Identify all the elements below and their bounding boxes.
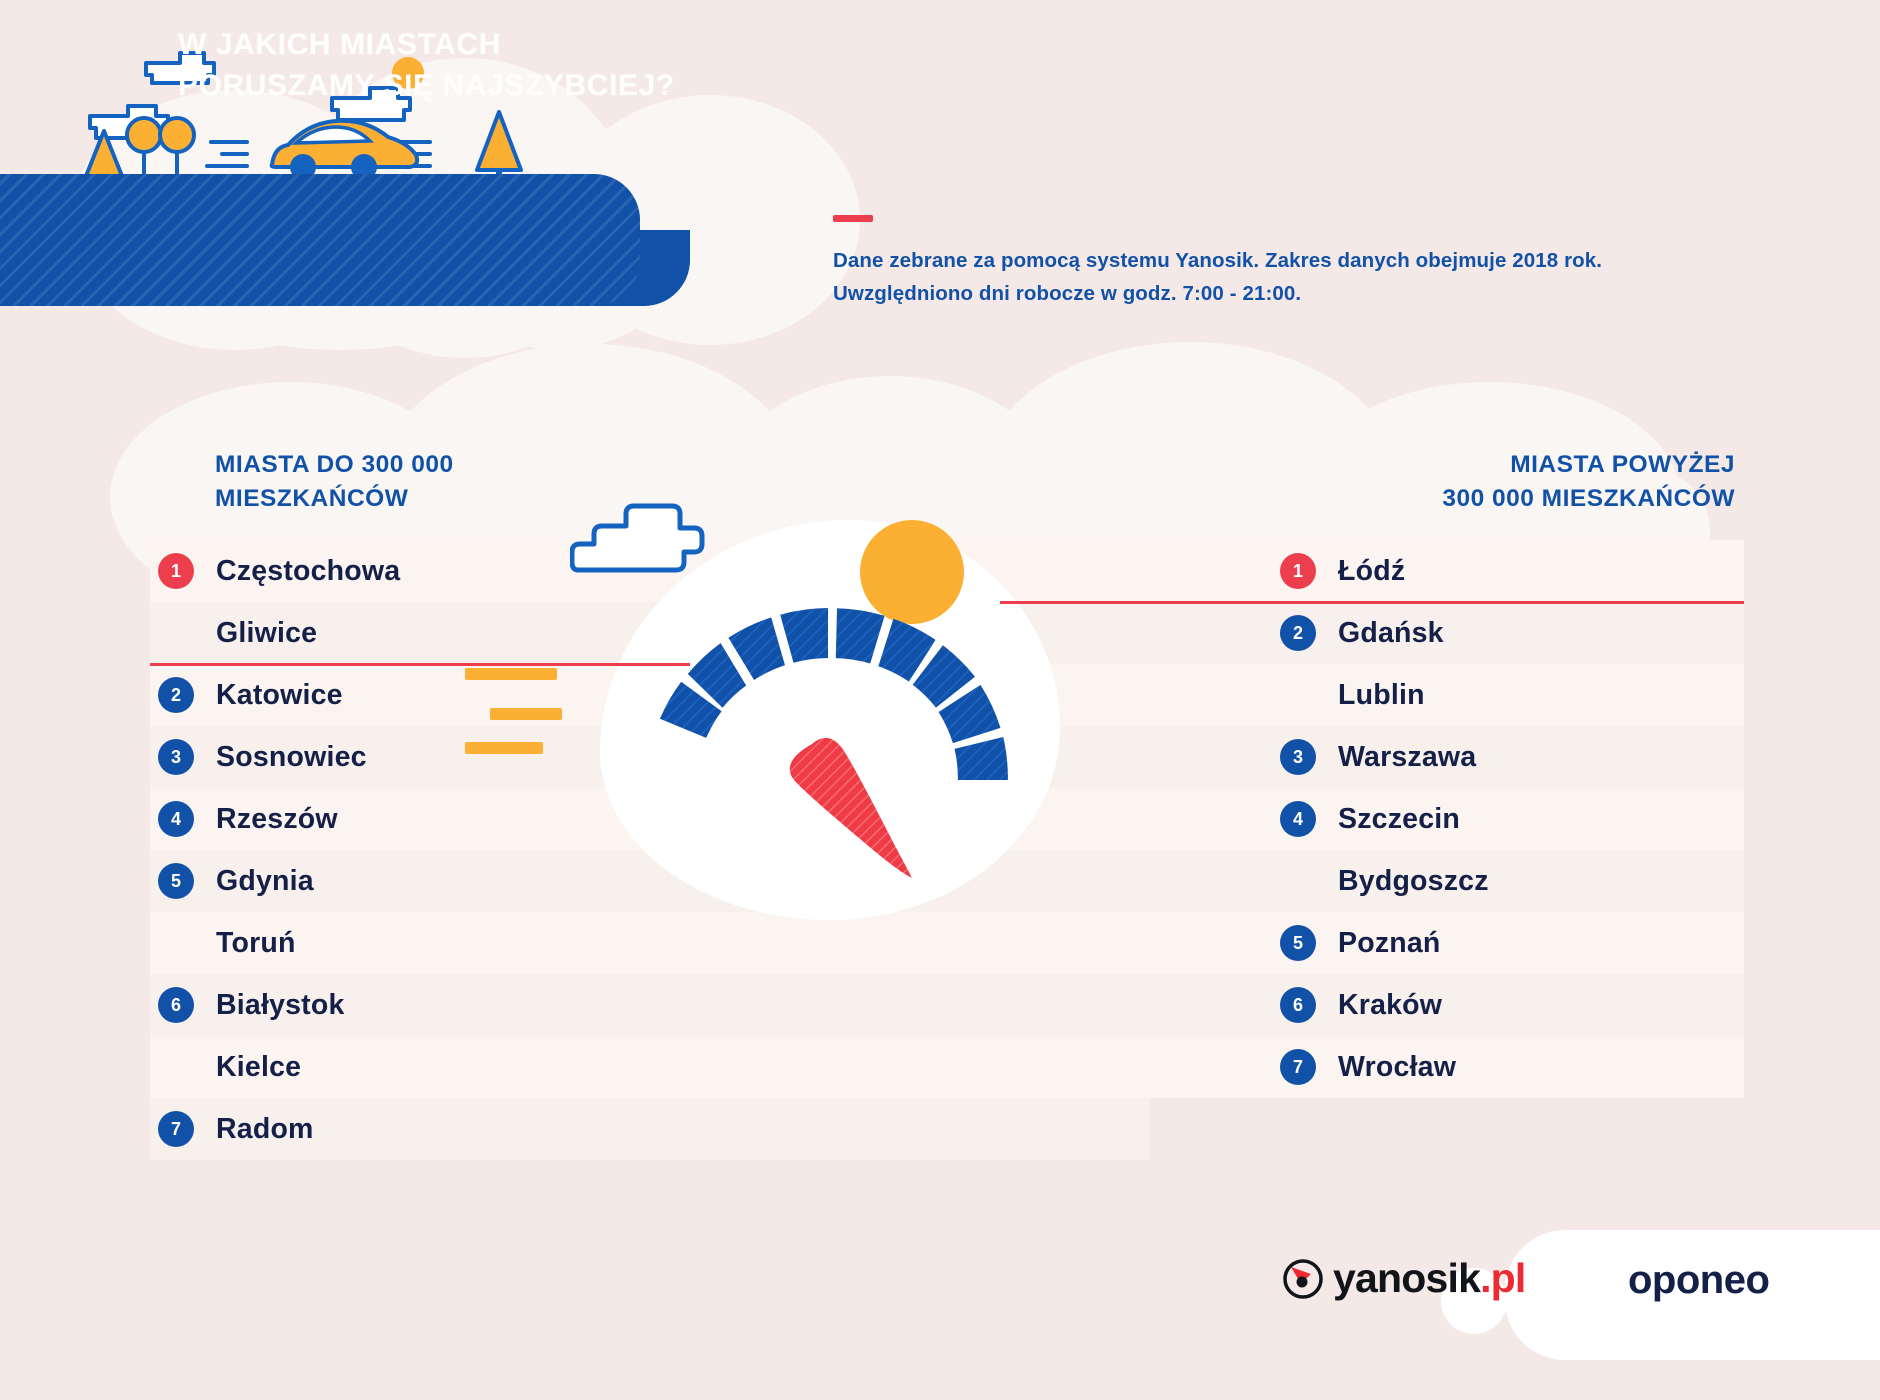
note-accent-dash bbox=[833, 215, 873, 222]
city-row[interactable]: 6Kraków bbox=[1280, 974, 1750, 1036]
rank-divider-line bbox=[150, 663, 690, 666]
city-row[interactable]: 1Łódź bbox=[1280, 540, 1750, 602]
city-row[interactable]: Kielce bbox=[158, 1036, 678, 1098]
rank-badge: 4 bbox=[1280, 801, 1316, 837]
city-name: Kraków bbox=[1338, 989, 1442, 1022]
car-icon bbox=[272, 121, 418, 180]
city-name: Rzeszów bbox=[216, 803, 338, 836]
tree-icon bbox=[127, 118, 161, 178]
title-banner bbox=[0, 174, 640, 306]
rank-badge-empty bbox=[158, 1049, 194, 1085]
title-line-1: W JAKICH MIASTACH bbox=[178, 25, 675, 66]
city-name: Gliwice bbox=[216, 617, 317, 650]
right-heading-line-1: MIASTA POWYŻEJ bbox=[1335, 448, 1735, 482]
gauge-needle bbox=[790, 738, 912, 878]
tree-icon bbox=[160, 118, 194, 178]
rank-badge-empty bbox=[1280, 863, 1316, 899]
city-name: Szczecin bbox=[1338, 803, 1460, 836]
rank-badge: 5 bbox=[158, 863, 194, 899]
right-city-list: 1Łódź2GdańskLublin3Warszawa4SzczecinBydg… bbox=[1280, 540, 1750, 1098]
city-row[interactable]: 4Rzeszów bbox=[158, 788, 678, 850]
rank-badge: 7 bbox=[158, 1111, 194, 1147]
source-note: Dane zebrane za pomocą systemu Yanosik. … bbox=[833, 215, 1653, 310]
left-column-heading: MIASTA DO 300 000 MIESZKAŃCÓW bbox=[215, 448, 454, 516]
city-name: Katowice bbox=[216, 679, 343, 712]
rank-badge: 1 bbox=[1280, 553, 1316, 589]
right-heading-line-2: 300 000 MIESZKAŃCÓW bbox=[1335, 482, 1735, 516]
city-name: Poznań bbox=[1338, 927, 1441, 960]
yanosik-mark-icon bbox=[1282, 1258, 1324, 1300]
city-name: Łódź bbox=[1338, 555, 1405, 588]
city-row[interactable]: 4Szczecin bbox=[1280, 788, 1750, 850]
city-row[interactable]: 2Katowice bbox=[158, 664, 678, 726]
left-city-list: 1CzęstochowaGliwice2Katowice3Sosnowiec4R… bbox=[158, 540, 678, 1160]
city-row[interactable]: 7Wrocław bbox=[1280, 1036, 1750, 1098]
rank-badge: 6 bbox=[1280, 987, 1316, 1023]
note-text: Dane zebrane za pomocą systemu Yanosik. … bbox=[833, 244, 1653, 310]
city-name: Białystok bbox=[216, 989, 345, 1022]
city-row[interactable]: Lublin bbox=[1280, 664, 1750, 726]
rank-badge: 1 bbox=[158, 553, 194, 589]
rank-badge-empty bbox=[158, 925, 194, 961]
city-row[interactable]: 1Częstochowa bbox=[158, 540, 678, 602]
yanosik-logo[interactable]: yanosik.pl bbox=[1282, 1255, 1526, 1302]
left-heading-line-1: MIASTA DO 300 000 bbox=[215, 448, 454, 482]
city-name: Sosnowiec bbox=[216, 741, 367, 774]
rank-badge-empty bbox=[158, 615, 194, 651]
yanosik-name: yanosik bbox=[1333, 1255, 1480, 1301]
city-row[interactable]: 3Warszawa bbox=[1280, 726, 1750, 788]
city-row[interactable]: Bydgoszcz bbox=[1280, 850, 1750, 912]
city-name: Wrocław bbox=[1338, 1051, 1456, 1084]
city-name: Gdynia bbox=[216, 865, 314, 898]
city-name: Radom bbox=[216, 1113, 314, 1146]
city-row[interactable]: Gliwice bbox=[158, 602, 678, 664]
rank-badge-empty bbox=[1280, 677, 1316, 713]
oponeo-wordmark[interactable]: oponeo bbox=[1628, 1258, 1769, 1303]
rank-badge: 3 bbox=[1280, 739, 1316, 775]
city-name: Warszawa bbox=[1338, 741, 1476, 774]
city-name: Gdańsk bbox=[1338, 617, 1444, 650]
right-column-heading: MIASTA POWYŻEJ 300 000 MIESZKAŃCÓW bbox=[1335, 448, 1735, 516]
rank-badge: 3 bbox=[158, 739, 194, 775]
city-name: Toruń bbox=[216, 927, 296, 960]
city-row[interactable]: 6Białystok bbox=[158, 974, 678, 1036]
left-heading-line-2: MIESZKAŃCÓW bbox=[215, 482, 454, 516]
city-row[interactable]: 5Poznań bbox=[1280, 912, 1750, 974]
city-name: Lublin bbox=[1338, 679, 1425, 712]
city-row[interactable]: 3Sosnowiec bbox=[158, 726, 678, 788]
rank-divider-line bbox=[1000, 601, 1744, 604]
city-row[interactable]: 2Gdańsk bbox=[1280, 602, 1750, 664]
rank-badge: 2 bbox=[158, 677, 194, 713]
city-name: Kielce bbox=[216, 1051, 301, 1084]
city-row[interactable]: Toruń bbox=[158, 912, 678, 974]
title-line-2: PORUSZAMY SIĘ NAJSZYBCIEJ? bbox=[178, 66, 675, 107]
page-title: W JAKICH MIASTACH PORUSZAMY SIĘ NAJSZYBC… bbox=[178, 25, 675, 106]
city-name: Częstochowa bbox=[216, 555, 400, 588]
city-name: Bydgoszcz bbox=[1338, 865, 1489, 898]
rank-badge: 2 bbox=[1280, 615, 1316, 651]
yanosik-wordmark: yanosik.pl bbox=[1333, 1255, 1526, 1302]
rank-badge: 5 bbox=[1280, 925, 1316, 961]
city-row[interactable]: 7Radom bbox=[158, 1098, 678, 1160]
rank-badge: 7 bbox=[1280, 1049, 1316, 1085]
yanosik-tld: .pl bbox=[1480, 1255, 1525, 1301]
rank-badge: 6 bbox=[158, 987, 194, 1023]
rank-badge: 4 bbox=[158, 801, 194, 837]
city-row[interactable]: 5Gdynia bbox=[158, 850, 678, 912]
